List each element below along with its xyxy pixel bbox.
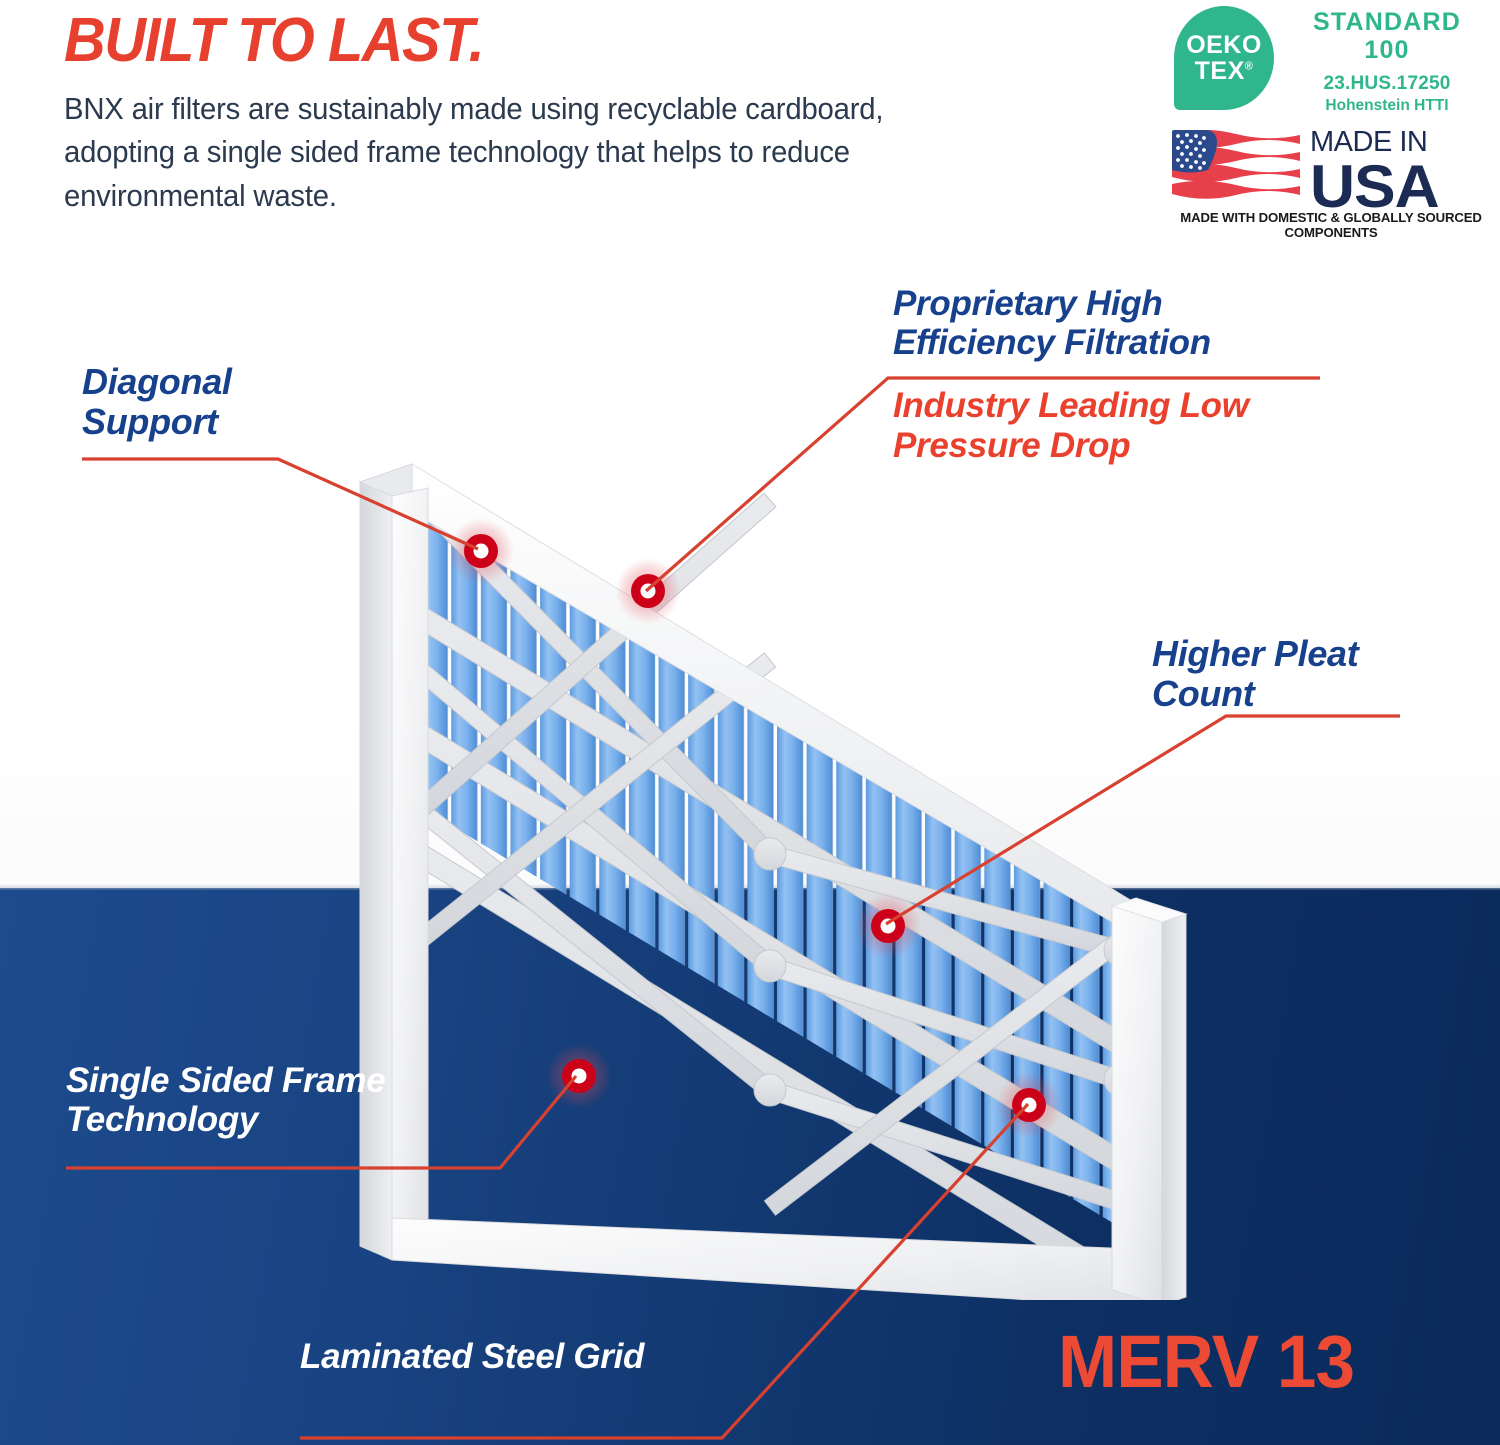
callout-single-sided-frame: Single Sided Frame Technology [66, 1061, 486, 1139]
registered-mark-icon: ® [1245, 61, 1254, 73]
page-body-text: BNX air filters are sustainably made usi… [64, 88, 909, 218]
usa-disclaimer: MADE WITH DOMESTIC & GLOBALLY SOURCED CO… [1172, 210, 1490, 240]
american-flag-icon [1172, 130, 1300, 204]
callout-pressure-drop-line2: Pressure Drop [893, 426, 1313, 465]
oeko-tex-mark-line1: OEKO [1186, 32, 1262, 58]
made-in-usa-badge: MADE IN USA MADE WITH DOMESTIC & GLOBALL… [1172, 130, 1490, 234]
callout-frame-line1: Single Sided Frame [66, 1061, 486, 1100]
merv-rating-label: MERV 13 [1058, 1325, 1354, 1399]
usa-label: USA [1310, 159, 1439, 214]
callout-filtration-line1: Proprietary High [893, 284, 1313, 323]
callout-diagonal-support-line1: Diagonal [82, 362, 382, 402]
oeko-standard-line1: STANDARD [1288, 8, 1486, 36]
callout-steel-grid-line1: Laminated Steel Grid [300, 1337, 730, 1376]
callout-pleat-count-line1: Higher Pleat [1152, 634, 1492, 674]
marker-filtration [615, 558, 681, 624]
oeko-tex-droplet-icon: OEKO TEX® [1174, 6, 1274, 110]
oeko-standard-line2: 100 [1288, 36, 1486, 64]
marker-steel-grid [996, 1072, 1062, 1138]
callout-filtration-group: Proprietary High Efficiency Filtration I… [893, 284, 1313, 465]
marker-single-sided-frame [546, 1043, 612, 1109]
oeko-tex-text-block: STANDARD 100 23.HUS.17250 Hohenstein HTT… [1288, 8, 1486, 115]
oeko-tex-mark-line2: TEX [1195, 57, 1245, 85]
marker-pleat-count [855, 893, 921, 959]
oeko-certificate-number: 23.HUS.17250 [1288, 73, 1486, 95]
oeko-institute: Hohenstein HTTI [1288, 97, 1486, 115]
callout-laminated-steel-grid: Laminated Steel Grid [300, 1337, 730, 1376]
made-in-usa-text: MADE IN USA [1310, 128, 1434, 214]
callout-diagonal-support: Diagonal Support [82, 362, 382, 443]
callout-filtration-line2: Efficiency Filtration [893, 323, 1313, 362]
callout-pressure-drop-line1: Industry Leading Low [893, 386, 1313, 425]
callout-frame-line2: Technology [66, 1100, 486, 1139]
callout-higher-pleat-count: Higher Pleat Count [1152, 634, 1492, 715]
page-headline: BUILT TO LAST. [64, 8, 483, 73]
oeko-tex-badge: OEKO TEX® STANDARD 100 23.HUS.17250 Hohe… [1174, 6, 1486, 118]
marker-diagonal-support [448, 518, 514, 584]
callout-diagonal-support-line2: Support [82, 402, 382, 442]
callout-pleat-count-line2: Count [1152, 674, 1492, 714]
